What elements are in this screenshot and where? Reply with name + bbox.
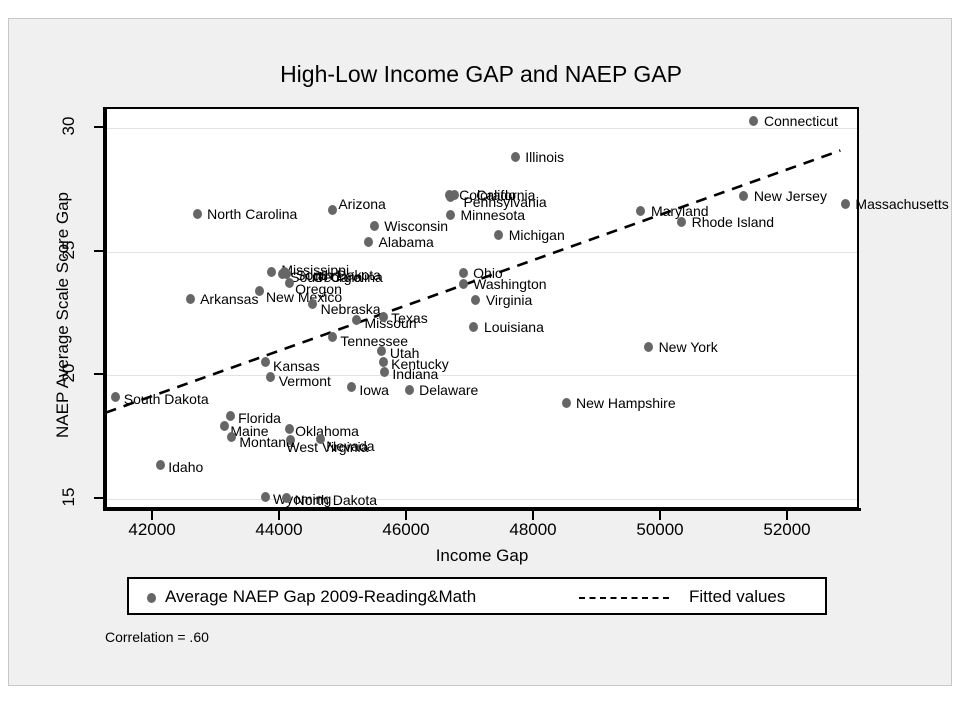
data-point-label: North Dakota	[295, 492, 377, 508]
data-point	[459, 279, 468, 289]
data-point	[261, 357, 270, 367]
data-point-label: Minnesota	[460, 207, 525, 223]
data-point-label: Nevada	[326, 438, 374, 454]
data-point	[347, 382, 356, 392]
data-point	[370, 221, 379, 231]
data-point	[364, 237, 373, 247]
data-point	[841, 199, 850, 209]
y-axis-tick	[94, 250, 104, 252]
data-point-label: Iowa	[359, 382, 389, 398]
x-axis-tick	[151, 511, 153, 520]
data-point	[226, 411, 235, 421]
y-axis-tick	[94, 373, 104, 375]
x-axis-tick-label: 52000	[742, 520, 832, 540]
x-axis-tick-label: 50000	[615, 520, 705, 540]
data-point-label: Massachusetts	[855, 196, 948, 212]
data-point-label: Kansas	[273, 358, 320, 374]
data-point-label: Indiana	[392, 366, 438, 382]
legend-label-scatter: Average NAEP Gap 2009-Reading&Math	[165, 587, 476, 607]
y-axis-tick-label: 20	[59, 353, 79, 393]
data-point	[379, 312, 388, 322]
y-axis-tick-label: 25	[59, 230, 79, 270]
data-point	[562, 398, 571, 408]
data-point	[111, 392, 120, 402]
data-point-label: New Hampshire	[576, 395, 676, 411]
x-axis-line	[103, 508, 861, 511]
data-point	[379, 357, 388, 367]
data-point-label: Washington	[473, 276, 546, 292]
data-point-label: Alabama	[379, 234, 434, 250]
chart-legend: Average NAEP Gap 2009-Reading&Math Fitte…	[127, 577, 827, 615]
chart-title: High-Low Income GAP and NAEP GAP	[9, 61, 953, 88]
data-point-label: Michigan	[509, 227, 565, 243]
data-point	[352, 315, 361, 325]
data-point	[285, 424, 294, 434]
plot-area	[105, 107, 859, 509]
x-axis-tick	[532, 511, 534, 520]
data-point	[156, 460, 165, 470]
gridline	[107, 375, 857, 376]
y-axis-tick	[94, 497, 104, 499]
legend-marker-dot	[147, 593, 156, 603]
correlation-annotation: Correlation = .60	[105, 629, 209, 645]
data-point	[266, 372, 275, 382]
y-axis-tick-label: 30	[59, 106, 79, 146]
gridline	[107, 252, 857, 253]
data-point-label: Connecticut	[764, 113, 838, 129]
data-point-label: Illinois	[525, 149, 564, 165]
data-point-label: Arkansas	[200, 291, 258, 307]
y-axis-tick	[94, 126, 104, 128]
data-point-label: Rhode Island	[692, 214, 775, 230]
gridline	[107, 128, 857, 129]
data-point	[193, 209, 202, 219]
data-point	[261, 492, 270, 502]
data-point	[267, 267, 276, 277]
x-axis-tick-label: 46000	[361, 520, 451, 540]
data-point-label: Idaho	[168, 459, 203, 475]
data-point	[459, 268, 468, 278]
data-point	[316, 434, 325, 444]
data-point-label: Oklahoma	[295, 423, 359, 439]
data-point-label: Virginia	[486, 292, 532, 308]
data-point	[380, 367, 389, 377]
x-axis-tick	[405, 511, 407, 520]
data-point	[285, 278, 294, 288]
data-point-label: Delaware	[419, 382, 478, 398]
data-point-label: New York	[659, 339, 718, 355]
data-point-label: Texas	[391, 310, 428, 326]
data-point-label: New Jersey	[754, 188, 827, 204]
data-point	[186, 294, 195, 304]
y-axis-line	[103, 107, 106, 511]
x-axis-tick	[659, 511, 661, 520]
data-point-label: Vermont	[279, 373, 331, 389]
data-point-label: Louisiana	[484, 319, 544, 335]
x-axis-tick-label: 42000	[107, 520, 197, 540]
figure-panel: High-Low Income GAP and NAEP GAP NAEP Av…	[8, 18, 952, 686]
x-axis-title: Income Gap	[105, 546, 859, 566]
data-point	[308, 299, 317, 309]
data-point	[511, 152, 520, 162]
y-axis-tick-label: 15	[59, 477, 79, 517]
x-axis-tick-label: 44000	[234, 520, 324, 540]
x-axis-tick	[278, 511, 280, 520]
x-axis-tick-label: 48000	[488, 520, 578, 540]
data-point-label: North Carolina	[207, 206, 297, 222]
x-axis-tick	[786, 511, 788, 520]
gridline	[107, 499, 857, 500]
y-axis-title: NAEP Average Scale Score Gap	[53, 125, 73, 505]
data-point	[494, 230, 503, 240]
data-point	[328, 332, 337, 342]
data-point-label: Wisconsin	[384, 218, 448, 234]
legend-marker-dash	[579, 597, 669, 599]
data-point-label: South Dakota	[124, 391, 209, 407]
data-point	[328, 205, 337, 215]
data-point-label: Arizona	[338, 196, 385, 212]
legend-label-fit: Fitted values	[689, 587, 785, 607]
